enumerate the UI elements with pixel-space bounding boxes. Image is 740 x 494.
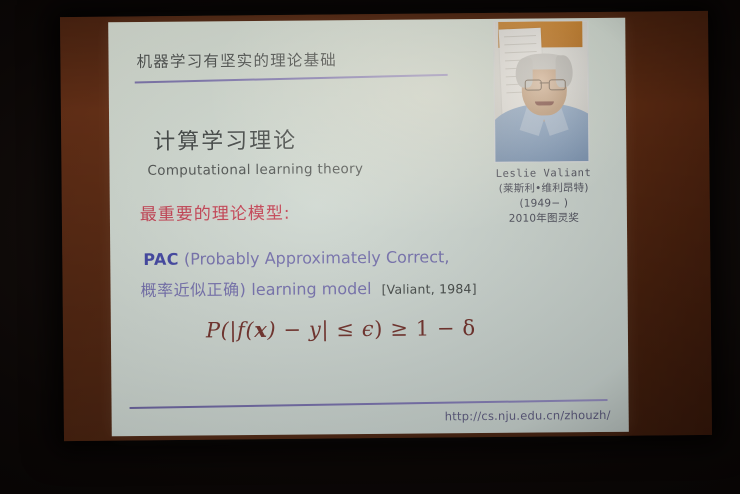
slide-title: 机器学习有坚实的理论基础 [136,48,337,72]
photo-of-projection-screen: 机器学习有坚实的理论基础 计算学习理论 Computational learni… [0,0,740,494]
formula-x-vector: x [254,317,267,342]
pac-line-second: 概率近似正确) learning model[Valiant, 1984] [140,274,476,301]
formula-lhs-open: P(| [206,318,237,342]
pac-acronym: PAC [143,250,179,269]
pac-formula: P(|f(x) − y| ≤ ϵ) ≥ 1 − δ [206,315,476,342]
slide-subtitle-chinese: 计算学习理论 [153,123,297,156]
formula-rhs: 1 − δ [416,316,476,341]
formula-f: f( [237,318,254,342]
footer-rule [130,399,608,409]
caption-years: (1949− ) [482,196,606,212]
footer-url: http://cs.nju.edu.cn/zhouzh/ [445,408,611,423]
formula-epsilon: ϵ [362,317,375,341]
presentation-slide: 机器学习有坚实的理论基础 计算学习理论 Computational learni… [108,18,629,436]
pac-model-text: learning model [246,279,371,299]
formula-paren-close: ) [374,317,383,341]
caption-chinese-name: (莱斯利•维利昂特) [482,181,606,197]
portrait-caption: Leslie Valiant (莱斯利•维利昂特) (1949− ) 2010年… [481,166,606,227]
formula-le: ≤ [329,317,362,341]
title-underline-rule [135,74,448,84]
pac-citation: [Valiant, 1984] [381,281,476,297]
slide-subtitle-english: Computational learning theory [147,161,363,179]
caption-award: 2010年图灵奖 [482,211,606,227]
pac-line-first: PAC (Probably Approximately Correct, [143,247,449,269]
pac-expansion-chinese: 概率近似正确) [140,280,246,300]
portrait-photo [493,20,589,163]
formula-ge: ≥ [383,317,416,341]
slide-content: 机器学习有坚实的理论基础 计算学习理论 Computational learni… [108,18,629,436]
pac-expansion: (Probably Approximately Correct, [179,247,450,268]
caption-name: Leslie Valiant [481,166,605,182]
formula-minus-y: − y [276,317,321,341]
portrait-light-shading [494,21,588,162]
key-model-heading: 最重要的理论模型: [140,199,291,225]
